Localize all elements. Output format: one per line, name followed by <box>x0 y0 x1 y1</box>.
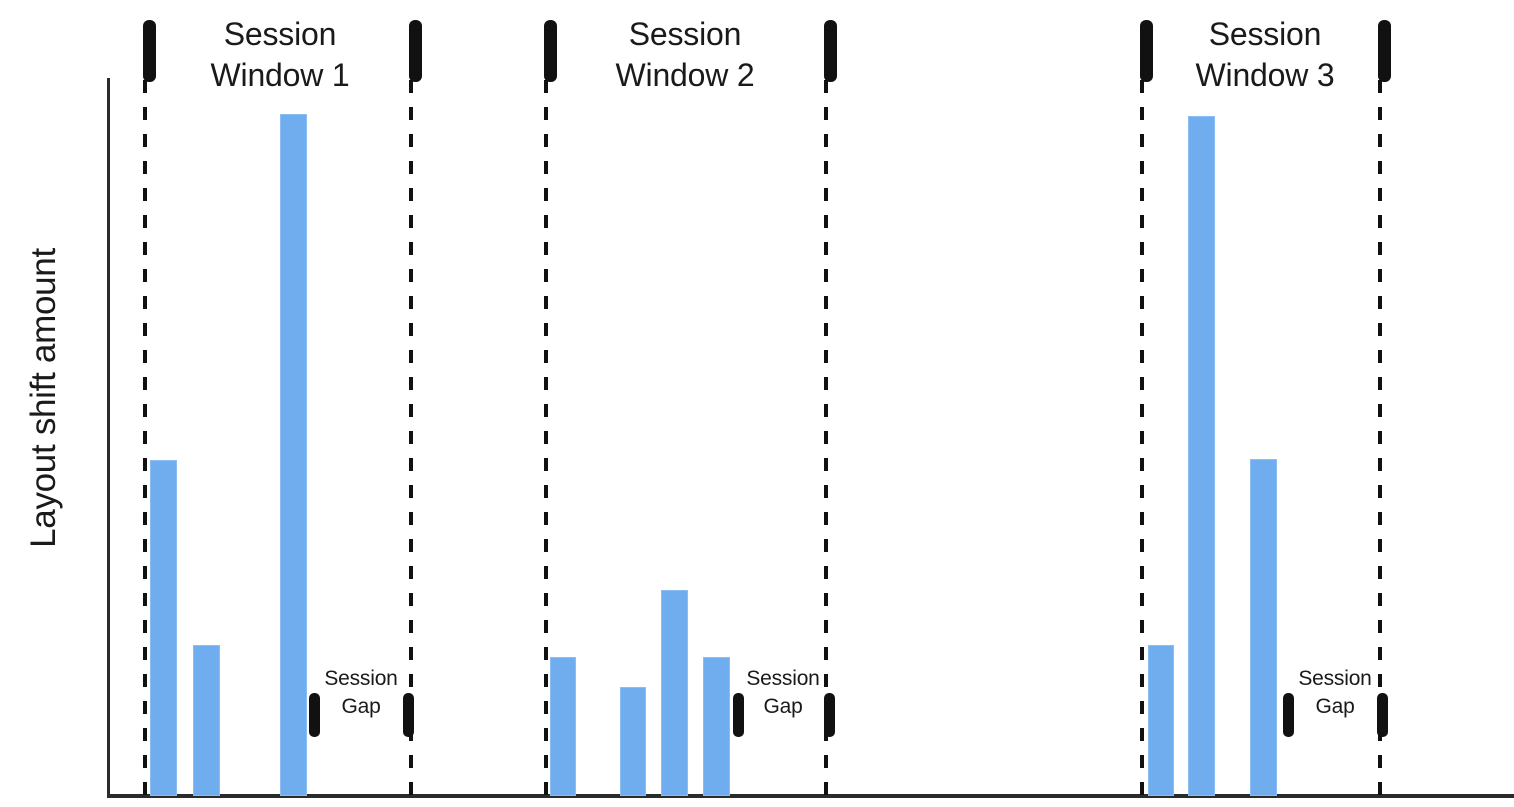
session-window-3-caption: Session Window 3 <box>1160 14 1370 96</box>
session-gap-3-left-marker <box>1283 693 1294 737</box>
bar-w2-1 <box>550 657 576 796</box>
session-gap-2-right-marker <box>824 693 835 737</box>
session-window-2-end-marker <box>824 20 837 82</box>
session-gap-2-left-marker <box>733 693 744 737</box>
session-gap-1-left-marker <box>309 693 320 737</box>
bar-w1-1 <box>150 460 177 796</box>
session-gap-3-right-marker <box>1377 693 1388 737</box>
session-window-2-start-marker <box>544 20 557 82</box>
bar-w2-3 <box>661 590 688 796</box>
session-boundary-line-1 <box>143 80 147 796</box>
session-window-3-start-marker <box>1140 20 1153 82</box>
session-window-1-caption: Session Window 1 <box>175 14 385 96</box>
session-boundary-line-5 <box>1140 80 1144 796</box>
bar-w3-3 <box>1250 459 1277 796</box>
session-gap-2-label: Session Gap <box>733 665 833 721</box>
session-boundary-line-3 <box>544 80 548 796</box>
bar-w2-2 <box>620 687 646 796</box>
bar-w1-3 <box>280 114 307 796</box>
bar-w3-1 <box>1148 645 1174 796</box>
session-gap-3-label: Session Gap <box>1285 665 1385 721</box>
session-window-2-caption: Session Window 2 <box>580 14 790 96</box>
y-axis-line <box>107 78 110 797</box>
y-axis-label: Layout shift amount <box>24 188 64 608</box>
bar-w3-2 <box>1188 116 1215 796</box>
bar-w2-4 <box>703 657 730 796</box>
bar-w1-2 <box>193 645 220 796</box>
session-window-1-start-marker <box>143 20 156 82</box>
session-window-1-end-marker <box>409 20 422 82</box>
chart-canvas: Layout shift amount Session Window 1Sess… <box>0 0 1514 807</box>
x-axis-line <box>107 794 1514 798</box>
session-window-3-end-marker <box>1378 20 1391 82</box>
session-gap-1-right-marker <box>403 693 414 737</box>
session-gap-1-label: Session Gap <box>311 665 411 721</box>
